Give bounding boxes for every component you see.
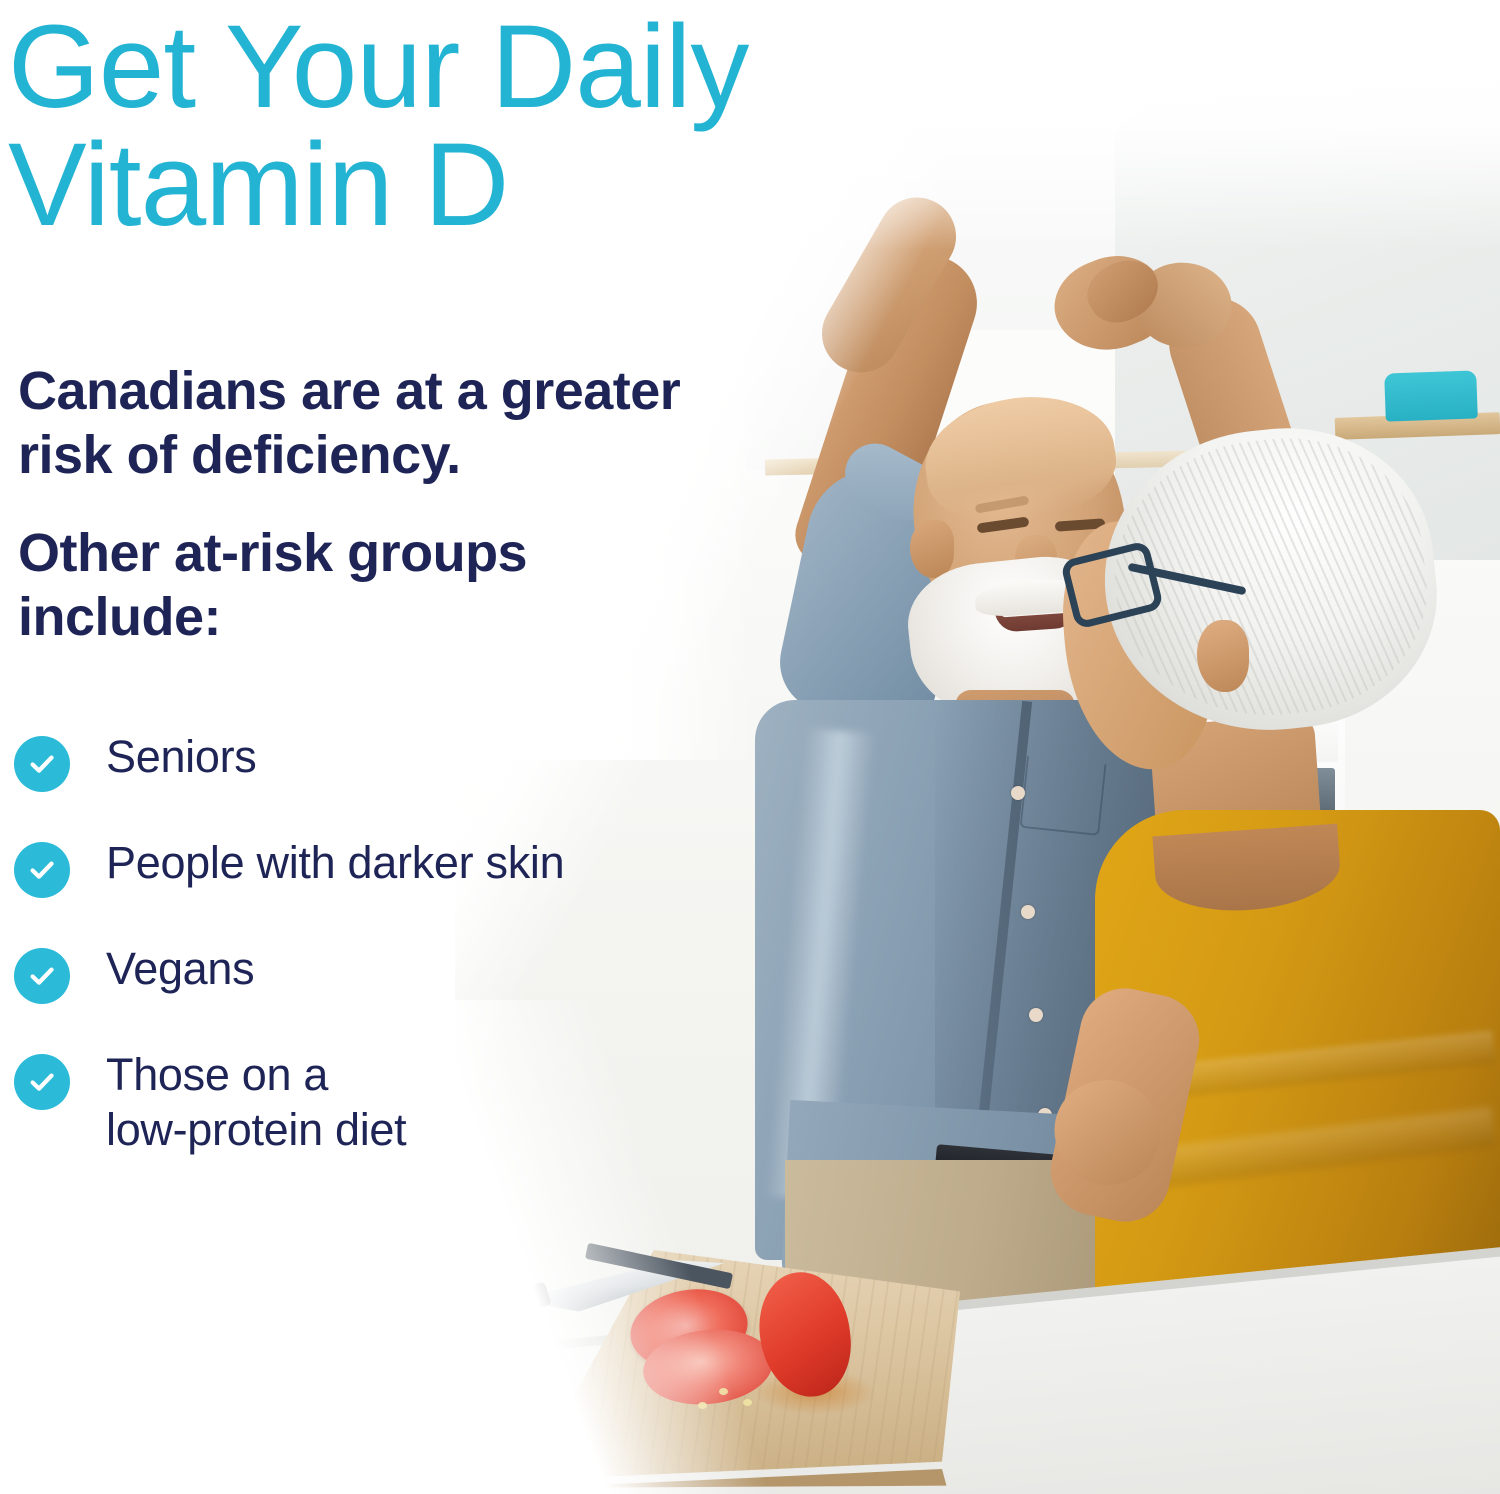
woman-ear	[1197, 620, 1249, 692]
check-circle-icon	[14, 842, 70, 898]
check-circle-icon	[14, 948, 70, 1004]
list-item-label: Seniors	[106, 730, 256, 785]
list-item: Those on a low-protein diet	[14, 1048, 754, 1158]
at-risk-group-list: Seniors People with darker skin Vegans	[14, 730, 754, 1202]
list-item-label: People with darker skin	[106, 836, 564, 891]
check-circle-icon	[14, 1054, 70, 1110]
infographic-canvas: Get Your Daily Vitamin D Canadians are a…	[0, 0, 1500, 1494]
page-title: Get Your Daily Vitamin D	[8, 8, 1008, 244]
list-item-label: Vegans	[106, 942, 254, 997]
check-circle-icon	[14, 736, 70, 792]
intro-paragraph: Canadians are at a greater risk of defic…	[18, 360, 848, 487]
teal-container	[1384, 370, 1478, 421]
list-intro-paragraph: Other at-risk groups include:	[18, 522, 718, 649]
list-item: Seniors	[14, 730, 754, 792]
list-item: Vegans	[14, 942, 754, 1004]
list-item: People with darker skin	[14, 836, 754, 898]
list-item-label: Those on a low-protein diet	[106, 1048, 406, 1158]
